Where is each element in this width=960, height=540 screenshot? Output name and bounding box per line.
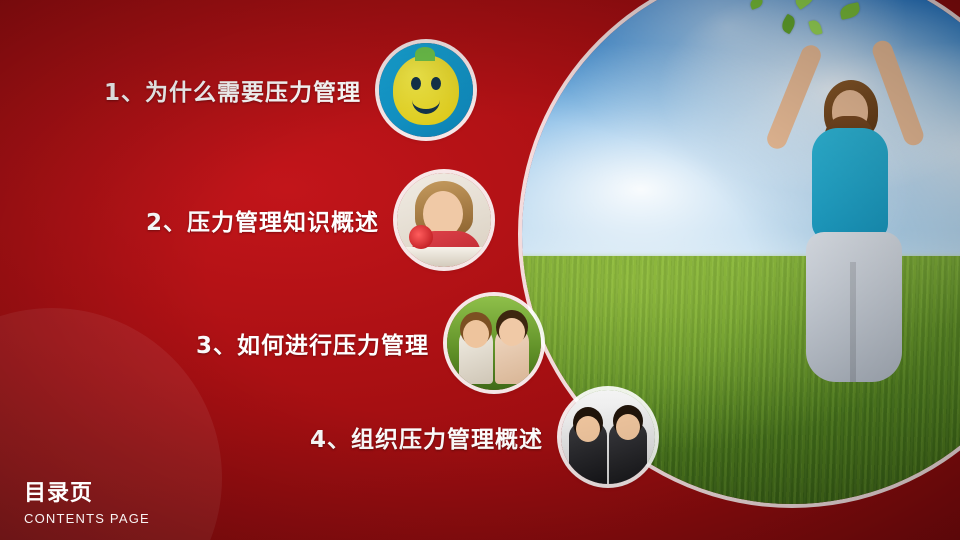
- footer-title: 目录页: [24, 475, 150, 507]
- vignette-overlay: [0, 0, 960, 540]
- footer: 目录页 CONTENTS PAGE: [24, 475, 150, 526]
- slide-canvas: 1、为什么需要压力管理 2、压力管理知识概述 3、如何进行压力管理: [0, 0, 960, 540]
- footer-subtitle: CONTENTS PAGE: [24, 511, 150, 526]
